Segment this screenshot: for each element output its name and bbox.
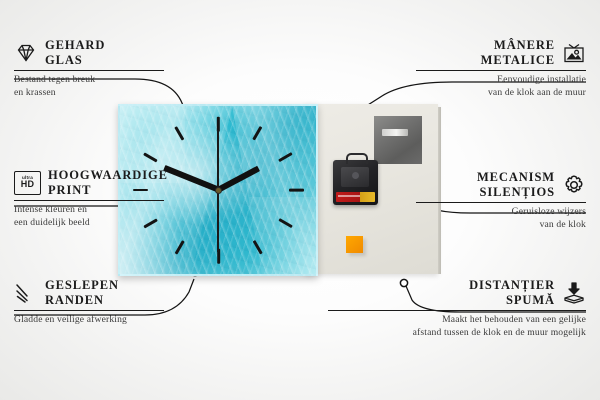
feature-title-line1: DISTANȚIER bbox=[469, 278, 555, 293]
feature-rule bbox=[328, 310, 586, 311]
feature-title-line2: RANDEN bbox=[45, 293, 119, 308]
feature-title-line1: GESLEPEN bbox=[45, 278, 119, 293]
feature-subtitle-line1: Eenvoudige installatie bbox=[416, 74, 586, 86]
feature-hoogwaardige-print[interactable]: ultra HD HOOGWAARDIGE PRINT Intense kleu… bbox=[14, 168, 164, 229]
feature-rule bbox=[416, 70, 586, 71]
metal-hanger-plate bbox=[374, 116, 422, 164]
hanger-loop bbox=[346, 153, 368, 164]
feature-header: GEHARD GLAS bbox=[14, 38, 164, 67]
feature-subtitle-line2: een duidelijk beeld bbox=[14, 217, 164, 229]
battery-label bbox=[336, 192, 375, 202]
clock-pivot bbox=[215, 187, 222, 194]
feature-header: MÂNERE METALICE bbox=[416, 38, 586, 67]
mechanism-shaft bbox=[341, 167, 369, 187]
feature-header: ultra HD HOOGWAARDIGE PRINT bbox=[14, 168, 164, 197]
feature-rule bbox=[14, 310, 164, 311]
feature-title-line1: MÂNERE bbox=[481, 38, 555, 53]
feature-subtitle-line2: afstand tussen de klok en de muur mogeli… bbox=[328, 327, 586, 339]
feature-distantier-spuma[interactable]: DISTANȚIER SPUMĂ Maakt het behouden van … bbox=[328, 278, 586, 339]
feature-rule bbox=[14, 70, 164, 71]
print-tile bbox=[249, 197, 316, 274]
feature-subtitle-line1: Maakt het behouden van een gelijke bbox=[328, 314, 586, 326]
feature-header: MECANISM SILENȚIOS bbox=[416, 170, 586, 199]
feature-rule bbox=[416, 202, 586, 203]
feature-gehard-glas[interactable]: GEHARD GLAS Bestand tegen breuk en krass… bbox=[14, 38, 164, 99]
diagonal-edges-icon bbox=[14, 281, 38, 305]
feature-subtitle-line1: Bestand tegen breuk bbox=[14, 74, 164, 86]
feature-title-line1: MECANISM bbox=[477, 170, 555, 185]
feature-geslepen-randen[interactable]: GESLEPEN RANDEN Gladde en veilige afwerk… bbox=[14, 278, 164, 327]
arrow-onto-pad-icon bbox=[562, 281, 586, 305]
feature-subtitle-line2: van de klok bbox=[416, 219, 586, 231]
hour-tick bbox=[289, 189, 304, 192]
clock-mechanism-box bbox=[333, 160, 378, 205]
diamond-icon bbox=[14, 41, 38, 65]
second-hand-counterweight bbox=[217, 130, 219, 190]
feature-rule bbox=[14, 200, 164, 201]
feature-manere-metalice[interactable]: MÂNERE METALICE Eenvoudige installatie v… bbox=[416, 38, 586, 99]
feature-title-line1: HOOGWAARDIGE bbox=[48, 168, 168, 183]
feature-title-line1: GEHARD bbox=[45, 38, 105, 53]
feature-subtitle-line1: Geruisloze wijzers bbox=[416, 206, 586, 218]
gear-icon bbox=[562, 173, 586, 197]
feature-title-line2: SPUMĂ bbox=[469, 293, 555, 308]
feature-title-line2: PRINT bbox=[48, 183, 168, 198]
feature-title-line2: METALICE bbox=[481, 53, 555, 68]
ultra-hd-icon-main-text: HD bbox=[21, 180, 34, 189]
feature-mecanism-silentios[interactable]: MECANISM SILENȚIOS Geruisloze wijzers va… bbox=[416, 170, 586, 231]
infographic-canvas: GEHARD GLAS Bestand tegen breuk en krass… bbox=[0, 0, 600, 400]
feature-title-line2: SILENȚIOS bbox=[477, 185, 555, 200]
feature-subtitle-line1: Intense kleuren en bbox=[14, 204, 164, 216]
second-hand bbox=[217, 190, 219, 252]
ultra-hd-icon: ultra HD bbox=[14, 171, 41, 195]
feature-subtitle-line2: en krassen bbox=[14, 87, 164, 99]
feature-header: DISTANȚIER SPUMĂ bbox=[328, 278, 586, 307]
foam-spacer bbox=[346, 236, 363, 253]
feature-title-line2: GLAS bbox=[45, 53, 105, 68]
picture-frame-hanging-icon bbox=[562, 41, 586, 65]
feature-subtitle-line2: van de klok aan de muur bbox=[416, 87, 586, 99]
feature-subtitle-line1: Gladde en veilige afwerking bbox=[14, 314, 164, 326]
feature-header: GESLEPEN RANDEN bbox=[14, 278, 164, 307]
